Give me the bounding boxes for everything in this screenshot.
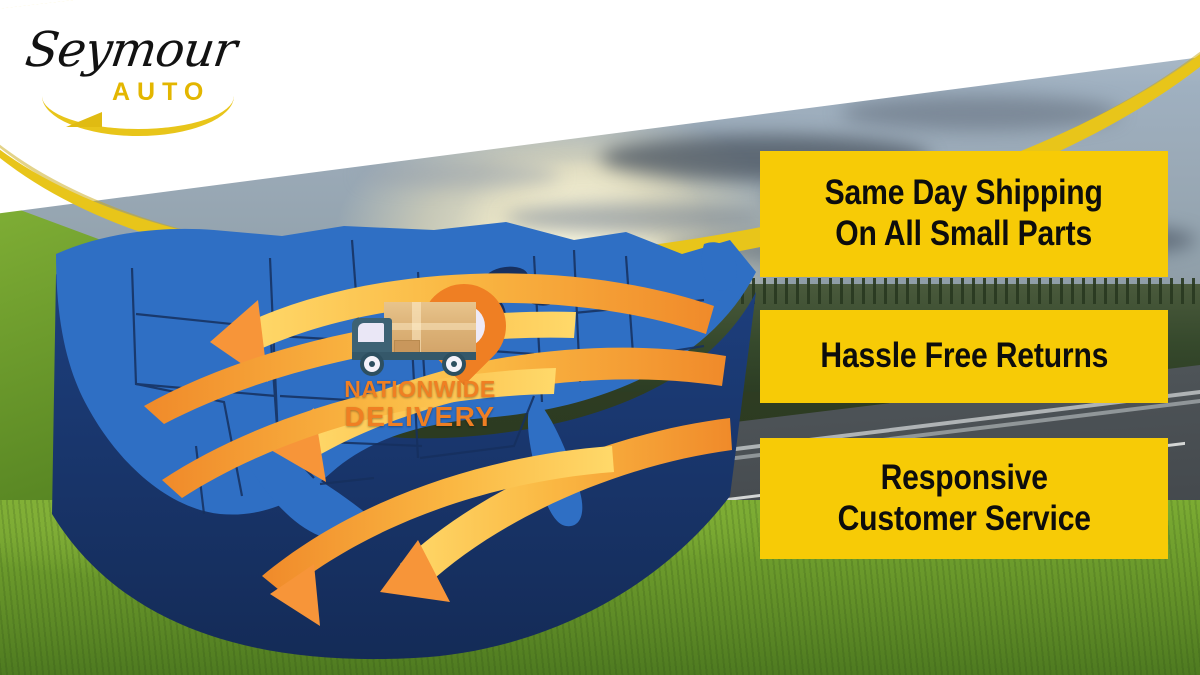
feature-list: Same Day Shipping On All Small Parts Has… [760,151,1168,559]
feature-2-line-1: Hassle Free Returns [820,336,1108,377]
feature-box-hassle-free-returns[interactable]: Hassle Free Returns [760,310,1168,403]
feature-1-line-1: Same Day Shipping [825,173,1103,214]
truck-wheel [360,352,384,376]
badge-line-1: NATIONWIDE [330,378,510,402]
truck-window [358,323,384,342]
feature-box-same-day-shipping[interactable]: Same Day Shipping On All Small Parts [760,151,1168,277]
feature-3-line-2: Customer Service [837,499,1090,540]
truck-wheel [442,352,466,376]
nationwide-delivery-badge: NATIONWIDE DELIVERY [330,278,510,458]
logo-sub-name: AUTO [112,78,210,107]
badge-caption: NATIONWIDE DELIVERY [330,378,510,431]
delivery-truck-icon [338,300,478,380]
feature-1-line-2: On All Small Parts [825,214,1103,255]
feature-box-responsive-customer-service[interactable]: Responsive Customer Service [760,438,1168,559]
promo-banner: Seymour AUTO [0,0,1200,675]
brand-logo[interactable]: Seymour AUTO [26,22,241,127]
feature-3-line-1: Responsive [837,458,1090,499]
logo-script-name: Seymour [22,22,240,78]
badge-line-2: DELIVERY [330,402,510,431]
